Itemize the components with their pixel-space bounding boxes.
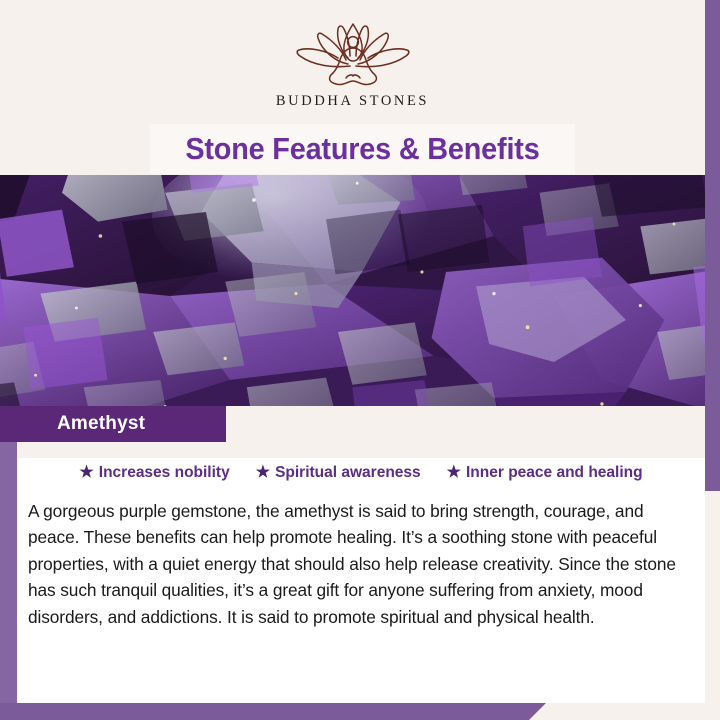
page-title-band: Stone Features & Benefits bbox=[150, 124, 575, 174]
lotus-meditation-icon bbox=[278, 18, 428, 90]
frame-bar-bottom bbox=[0, 703, 546, 720]
frame-bar-left bbox=[0, 441, 17, 720]
amethyst-crystal-facets bbox=[0, 175, 705, 406]
benefit-item-2: ★ Spiritual awareness bbox=[256, 464, 421, 482]
hero-image-amethyst-cluster bbox=[0, 175, 705, 406]
benefit-label-3: Inner peace and healing bbox=[466, 464, 643, 482]
stone-name: Amethyst bbox=[57, 413, 145, 435]
benefit-item-1: ★ Increases nobility bbox=[79, 464, 229, 482]
benefit-bullets: ★ Increases nobility ★ Spiritual awarene… bbox=[17, 464, 705, 482]
star-icon: ★ bbox=[447, 465, 461, 481]
frame-bar-right bbox=[705, 0, 720, 491]
star-icon: ★ bbox=[79, 465, 93, 481]
page-title: Stone Features & Benefits bbox=[185, 131, 539, 167]
star-icon: ★ bbox=[256, 465, 270, 481]
stone-name-banner: Amethyst bbox=[0, 406, 226, 442]
stone-description: A gorgeous purple gemstone, the amethyst… bbox=[28, 498, 696, 630]
brand-logo: BUDDHA STONES bbox=[0, 18, 705, 110]
benefit-label-1: Increases nobility bbox=[99, 464, 230, 482]
benefit-item-3: ★ Inner peace and healing bbox=[447, 464, 643, 482]
header: BUDDHA STONES Stone Features & Benefits bbox=[0, 0, 705, 175]
brand-name: BUDDHA STONES bbox=[276, 93, 429, 110]
benefit-label-2: Spiritual awareness bbox=[275, 464, 421, 482]
stone-info-card: ★ Increases nobility ★ Spiritual awarene… bbox=[17, 442, 705, 703]
card-top-strip bbox=[17, 442, 705, 458]
